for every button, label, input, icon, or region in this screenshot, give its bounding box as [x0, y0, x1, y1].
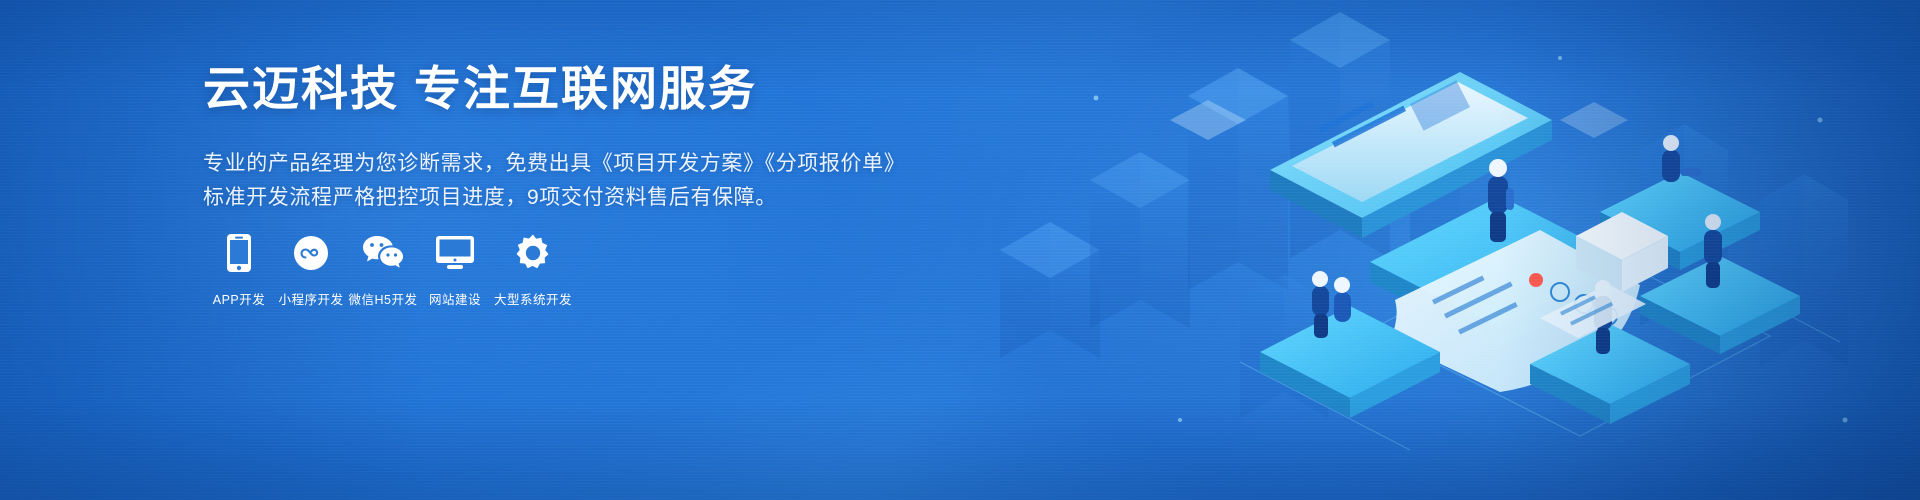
- subtitle-line-2: 标准开发流程严格把控项目进度，9项交付资料售后有保障。: [203, 181, 923, 215]
- person-standing-right: [1704, 214, 1722, 288]
- monitor-icon: [435, 230, 475, 276]
- service-label: APP开发: [213, 289, 266, 308]
- page-title: 云迈科技 专注互联网服务: [203, 62, 923, 117]
- service-label: 大型系统开发: [494, 289, 572, 308]
- gear-icon: [513, 230, 553, 276]
- service-item-app[interactable]: APP开发: [203, 230, 275, 308]
- subtitle-line-1: 专业的产品经理为您诊断需求，免费出具《项目开发方案》《分项报价单》: [203, 147, 923, 181]
- service-label: 小程序开发: [278, 289, 343, 308]
- mini-program-icon: [293, 230, 329, 276]
- service-item-website[interactable]: 网站建设: [419, 230, 491, 308]
- service-item-system[interactable]: 大型系统开发: [491, 230, 575, 308]
- service-item-mini-program[interactable]: 小程序开发: [275, 230, 347, 308]
- service-label: 网站建设: [429, 289, 481, 308]
- isometric-illustration: [940, 0, 1920, 500]
- service-item-wechat[interactable]: 微信H5开发: [347, 230, 419, 308]
- wechat-icon: [361, 230, 405, 276]
- service-list: APP开发 小程序开发 微信: [203, 230, 575, 308]
- mobile-phone-icon: [226, 230, 252, 276]
- hero-copy: 云迈科技 专注互联网服务 专业的产品经理为您诊断需求，免费出具《项目开发方案》《…: [203, 62, 923, 215]
- hero-banner: 云迈科技 专注互联网服务 专业的产品经理为您诊断需求，免费出具《项目开发方案》《…: [0, 0, 1920, 500]
- service-label: 微信H5开发: [349, 289, 418, 308]
